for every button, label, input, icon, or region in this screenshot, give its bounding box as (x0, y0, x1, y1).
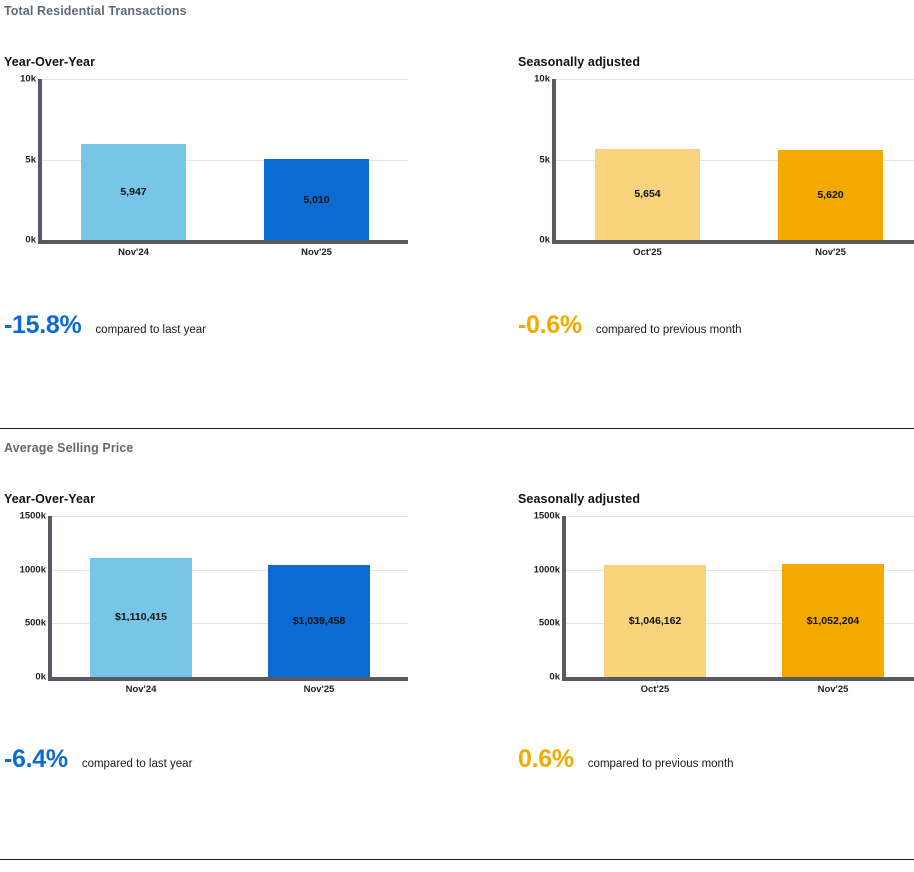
bar-chart-price-seasonally-adjusted: 0k500k1000k1500k$1,046,162Oct'25$1,052,2… (518, 506, 914, 706)
panel-price-yoy: Year-Over-Year 0k500k1000k1500k$1,110,41… (4, 492, 408, 706)
y-axis-tick-label: 500k (25, 618, 52, 629)
y-axis-tick-label: 10k (20, 74, 42, 85)
panel-title: Seasonally adjusted (518, 55, 914, 69)
delta-percentage: 0.6% (518, 747, 574, 772)
panel-transactions-yoy: Year-Over-Year 0k5k10k5,947Nov'245,010No… (4, 55, 408, 269)
y-axis-tick-label: 5k (539, 154, 556, 165)
section-title: Total Residential Transactions (4, 4, 187, 18)
y-axis-tick-label: 1500k (534, 511, 566, 522)
x-axis-tick-label: Nov'24 (118, 247, 149, 258)
bar[interactable]: $1,039,458 (268, 565, 369, 677)
section-title: Average Selling Price (4, 441, 133, 455)
panel-title: Year-Over-Year (4, 55, 408, 69)
plot-inner: 0k500k1000k1500k$1,046,162Oct'25$1,052,2… (566, 516, 914, 677)
delta-percentage: -15.8% (4, 313, 81, 338)
x-axis-tick-label: Nov'25 (815, 247, 846, 258)
delta-transactions-yoy: -15.8% compared to last year (4, 313, 206, 338)
delta-percentage: -0.6% (518, 313, 582, 338)
x-axis-tick-label: Nov'25 (304, 684, 335, 695)
bar-value-label: 5,654 (595, 188, 699, 200)
delta-price-seasonally-adjusted: 0.6% compared to previous month (518, 747, 734, 772)
bar[interactable]: $1,052,204 (782, 564, 883, 677)
panel-title: Year-Over-Year (4, 492, 408, 506)
panel-title: Seasonally adjusted (518, 492, 914, 506)
bar[interactable]: 5,620 (778, 150, 882, 240)
bar-value-label: $1,110,415 (90, 611, 191, 623)
bar-chart-transactions-yoy: 0k5k10k5,947Nov'245,010Nov'25 (4, 69, 408, 269)
y-axis-tick-label: 10k (534, 74, 556, 85)
x-axis-tick-label: Oct'25 (641, 684, 670, 695)
y-axis-tick-label: 0k (549, 672, 566, 683)
section-divider-2 (0, 859, 914, 860)
bar[interactable]: $1,046,162 (604, 565, 705, 677)
bar[interactable]: 5,947 (81, 144, 185, 240)
panel-transactions-seasonally-adjusted: Seasonally adjusted 0k5k10k5,654Oct'255,… (518, 55, 914, 269)
panel-price-seasonally-adjusted: Seasonally adjusted 0k500k1000k1500k$1,0… (518, 492, 914, 706)
bar-value-label: 5,947 (81, 186, 185, 198)
bar-value-label: 5,620 (778, 189, 882, 201)
plot-area: 0k500k1000k1500k$1,110,415Nov'24$1,039,4… (48, 516, 408, 681)
x-axis-tick-label: Nov'25 (818, 684, 849, 695)
bar-value-label: 5,010 (264, 194, 368, 206)
gridline (566, 516, 914, 517)
y-axis-tick-label: 1000k (20, 564, 52, 575)
y-axis-tick-label: 0k (539, 235, 556, 246)
dashboard-page: Total Residential Transactions Year-Over… (0, 0, 914, 872)
delta-transactions-seasonally-adjusted: -0.6% compared to previous month (518, 313, 742, 338)
bar-value-label: $1,039,458 (268, 615, 369, 627)
delta-label: compared to last year (82, 758, 193, 770)
delta-price-yoy: -6.4% compared to last year (4, 747, 192, 772)
bar-value-label: $1,046,162 (604, 615, 705, 627)
delta-label: compared to previous month (596, 324, 742, 336)
gridline (42, 79, 408, 80)
y-axis-tick-label: 0k (35, 672, 52, 683)
x-axis-tick-label: Nov'24 (126, 684, 157, 695)
x-axis-tick-label: Oct'25 (633, 247, 662, 258)
plot-inner: 0k500k1000k1500k$1,110,415Nov'24$1,039,4… (52, 516, 408, 677)
bar-chart-transactions-seasonally-adjusted: 0k5k10k5,654Oct'255,620Nov'25 (518, 69, 914, 269)
y-axis-tick-label: 0k (25, 235, 42, 246)
plot-inner: 0k5k10k5,947Nov'245,010Nov'25 (42, 79, 408, 240)
y-axis-tick-label: 5k (25, 154, 42, 165)
y-axis-tick-label: 500k (539, 618, 566, 629)
bar-chart-price-yoy: 0k500k1000k1500k$1,110,415Nov'24$1,039,4… (4, 506, 408, 706)
y-axis-tick-label: 1000k (534, 564, 566, 575)
bar[interactable]: 5,010 (264, 159, 368, 240)
section-divider-1 (0, 428, 914, 429)
x-axis-tick-label: Nov'25 (301, 247, 332, 258)
bar[interactable]: 5,654 (595, 149, 699, 240)
delta-percentage: -6.4% (4, 747, 68, 772)
plot-inner: 0k5k10k5,654Oct'255,620Nov'25 (556, 79, 914, 240)
plot-area: 0k5k10k5,654Oct'255,620Nov'25 (552, 79, 914, 244)
bar[interactable]: $1,110,415 (90, 558, 191, 677)
plot-area: 0k5k10k5,947Nov'245,010Nov'25 (38, 79, 408, 244)
y-axis-tick-label: 1500k (20, 511, 52, 522)
gridline (52, 516, 408, 517)
delta-label: compared to previous month (588, 758, 734, 770)
plot-area: 0k500k1000k1500k$1,046,162Oct'25$1,052,2… (562, 516, 914, 681)
gridline (556, 79, 914, 80)
delta-label: compared to last year (95, 324, 206, 336)
bar-value-label: $1,052,204 (782, 615, 883, 627)
